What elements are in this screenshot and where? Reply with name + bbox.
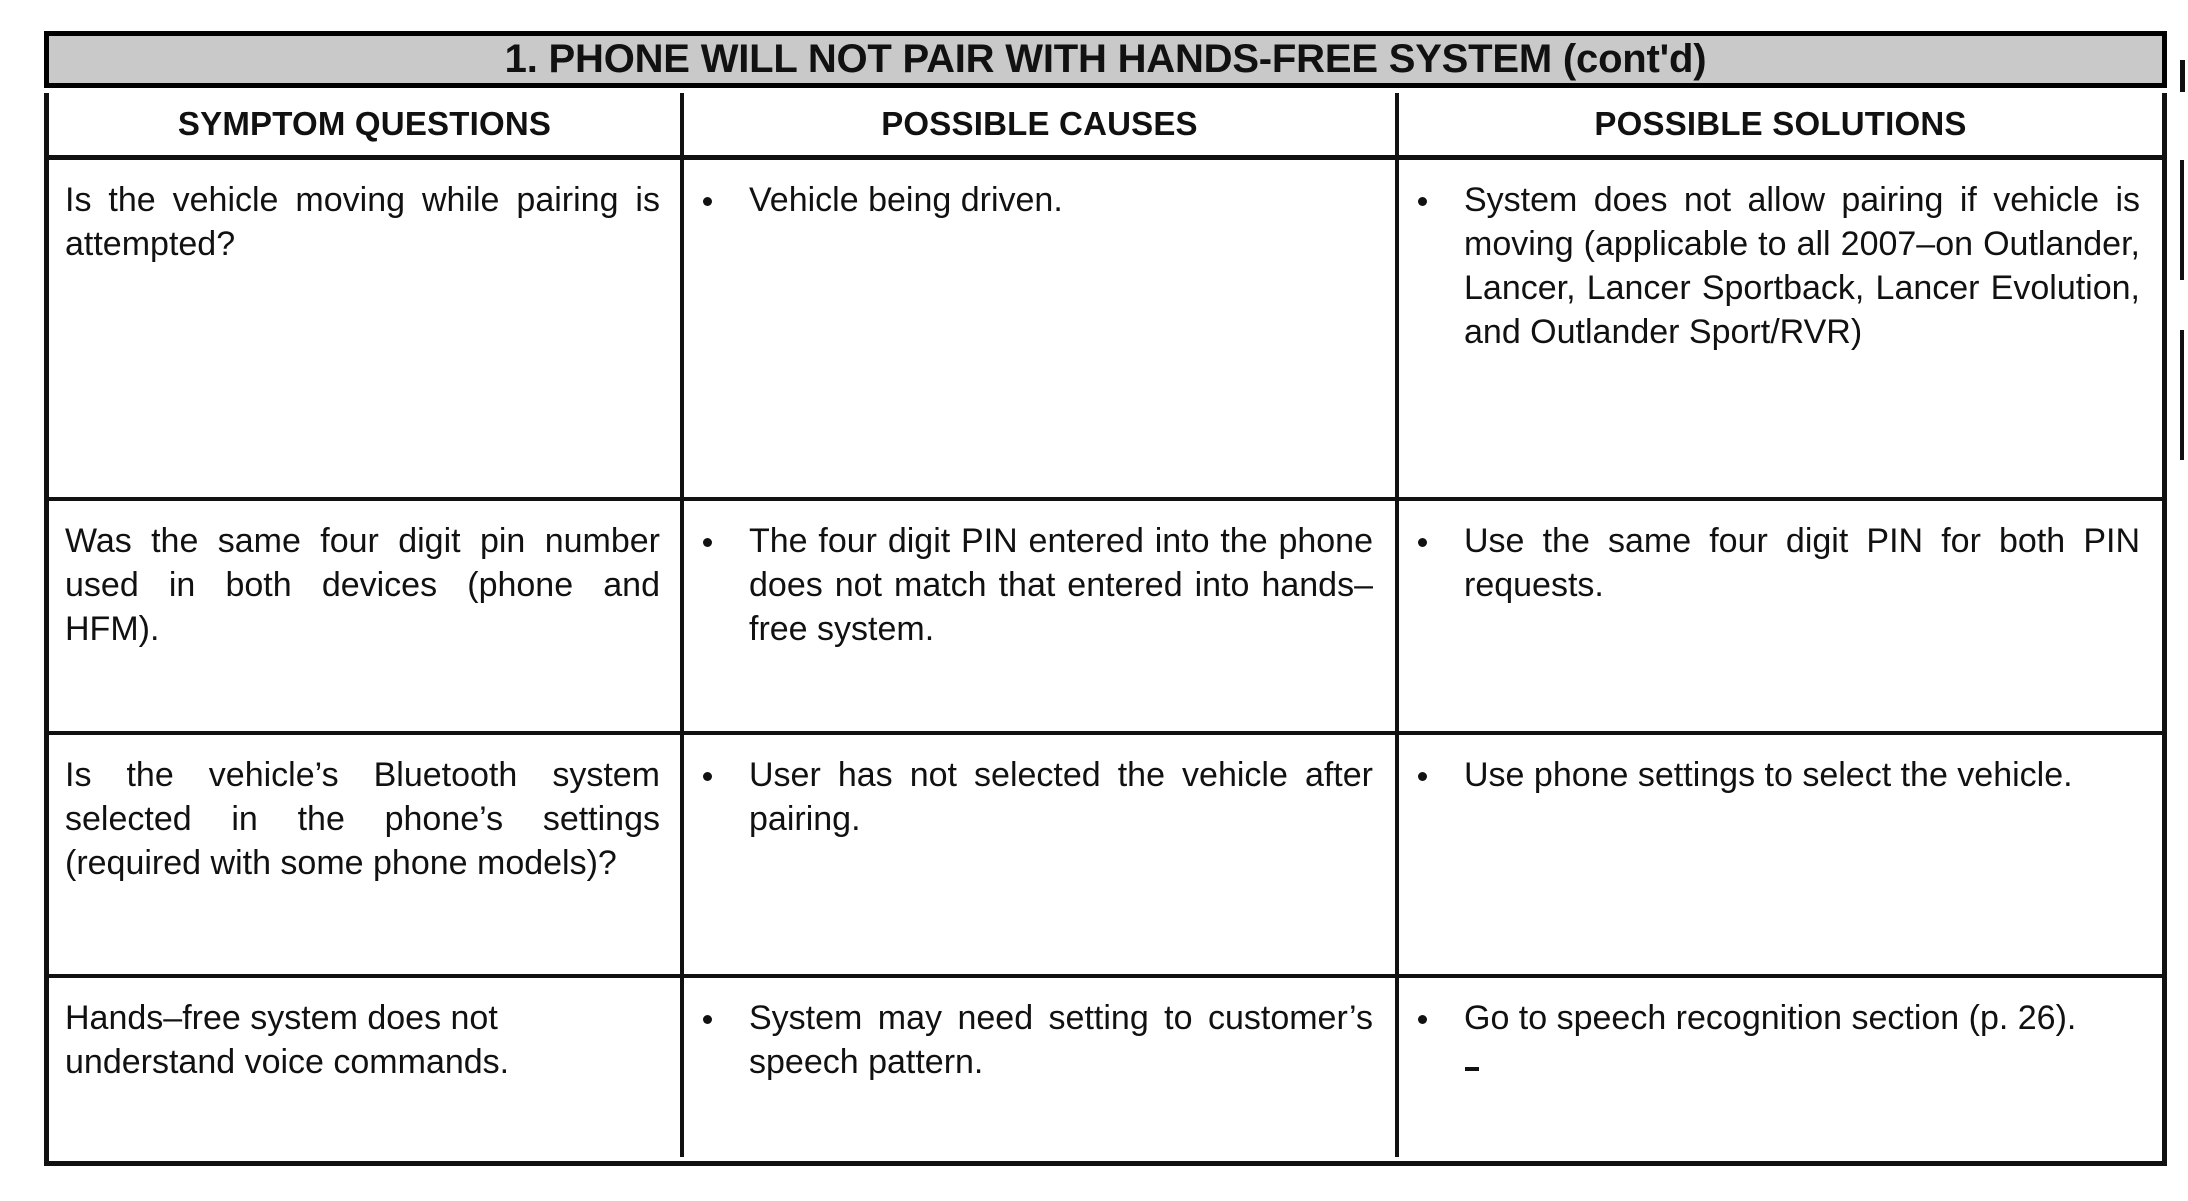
table-header-row: SYMPTOM QUESTIONS POSSIBLE CAUSES POSSIB… [49, 93, 2162, 160]
table-row: Was the same four digit pin number used … [49, 501, 2162, 735]
symptom-question-text: Hands–free system does not understand vo… [49, 978, 680, 1084]
possible-cause-text: User has not selected the vehicle after … [749, 753, 1373, 841]
list-item: Use phone settings to select the vehicle… [1413, 753, 2140, 797]
cell-possible-solutions: Go to speech recognition section (p. 26)… [1399, 978, 2162, 1157]
possible-solution-text: System does not allow pairing if vehicle… [1464, 178, 2140, 354]
possible-causes-list: System may need setting to customer’s sp… [684, 978, 1395, 1084]
cell-symptom-question: Hands–free system does not understand vo… [49, 978, 684, 1157]
cell-symptom-question: Is the vehicle moving while pairing is a… [49, 160, 684, 497]
possible-solution-text: Use phone settings to select the vehicle… [1464, 753, 2140, 797]
column-header-label: POSSIBLE CAUSES [881, 105, 1198, 143]
list-item: The four digit PIN entered into the phon… [698, 519, 1373, 651]
column-header-possible-causes: POSSIBLE CAUSES [684, 93, 1399, 155]
column-header-label: SYMPTOM QUESTIONS [178, 105, 551, 143]
possible-solutions-list: System does not allow pairing if vehicle… [1399, 160, 2162, 354]
bullet-icon [703, 197, 712, 206]
column-header-possible-solutions: POSSIBLE SOLUTIONS [1399, 93, 2162, 155]
cell-symptom-question: Was the same four digit pin number used … [49, 501, 684, 731]
bullet-icon [1418, 1015, 1427, 1024]
list-item: Use the same four digit PIN for both PIN… [1413, 519, 2140, 607]
possible-solutions-list: Go to speech recognition section (p. 26)… [1399, 978, 2162, 1084]
cell-symptom-question: Is the vehicle’s Bluetooth system select… [49, 735, 684, 974]
scan-artifact-tick-top [2180, 60, 2185, 92]
column-header-symptom-questions: SYMPTOM QUESTIONS [49, 93, 684, 155]
table-row: Is the vehicle’s Bluetooth system select… [49, 735, 2162, 978]
cell-possible-causes: Vehicle being driven. [684, 160, 1399, 497]
list-item: Vehicle being driven. [698, 178, 1373, 222]
bullet-icon [1418, 538, 1427, 547]
symptom-question-text: Is the vehicle moving while pairing is a… [49, 160, 680, 266]
bullet-icon [1418, 197, 1427, 206]
bullet-icon [1418, 772, 1427, 781]
column-header-label: POSSIBLE SOLUTIONS [1594, 105, 1966, 143]
list-item: System does not allow pairing if vehicle… [1413, 178, 2140, 354]
bullet-icon [703, 538, 712, 547]
cell-possible-causes: The four digit PIN entered into the phon… [684, 501, 1399, 731]
scan-artifact-underscore [1465, 1067, 1479, 1071]
bullet-icon [703, 1015, 712, 1024]
possible-solution-text: Go to speech recognition section (p. 26)… [1464, 996, 2140, 1040]
document-page: 1. PHONE WILL NOT PAIR WITH HANDS-FREE S… [0, 0, 2188, 1201]
cell-possible-causes: System may need setting to customer’s sp… [684, 978, 1399, 1157]
scan-artifact-tick-upper [2180, 160, 2184, 280]
symptom-question-text: Is the vehicle’s Bluetooth system select… [49, 735, 680, 885]
possible-solution-text: Use the same four digit PIN for both PIN… [1464, 519, 2140, 607]
table-row: Hands–free system does not understand vo… [49, 978, 2162, 1157]
list-item: System may need setting to customer’s sp… [698, 996, 1373, 1084]
cell-possible-solutions: System does not allow pairing if vehicle… [1399, 160, 2162, 497]
cell-possible-causes: User has not selected the vehicle after … [684, 735, 1399, 974]
table-row: Is the vehicle moving while pairing is a… [49, 160, 2162, 501]
possible-solutions-list: Use the same four digit PIN for both PIN… [1399, 501, 2162, 607]
bullet-icon [703, 772, 712, 781]
cell-possible-solutions: Use phone settings to select the vehicle… [1399, 735, 2162, 974]
possible-causes-list: Vehicle being driven. [684, 160, 1395, 222]
table-title-banner: 1. PHONE WILL NOT PAIR WITH HANDS-FREE S… [44, 31, 2167, 88]
possible-solutions-list: Use phone settings to select the vehicle… [1399, 735, 2162, 797]
table-title: 1. PHONE WILL NOT PAIR WITH HANDS-FREE S… [505, 39, 1707, 79]
possible-cause-text: Vehicle being driven. [749, 178, 1373, 222]
possible-cause-text: The four digit PIN entered into the phon… [749, 519, 1373, 651]
troubleshooting-table: SYMPTOM QUESTIONS POSSIBLE CAUSES POSSIB… [44, 93, 2167, 1166]
scan-artifact-tick-lower [2180, 330, 2184, 460]
list-item: Go to speech recognition section (p. 26)… [1413, 996, 2140, 1084]
list-item: User has not selected the vehicle after … [698, 753, 1373, 841]
possible-causes-list: User has not selected the vehicle after … [684, 735, 1395, 841]
symptom-question-text: Was the same four digit pin number used … [49, 501, 680, 651]
possible-cause-text: System may need setting to customer’s sp… [749, 996, 1373, 1084]
possible-causes-list: The four digit PIN entered into the phon… [684, 501, 1395, 651]
cell-possible-solutions: Use the same four digit PIN for both PIN… [1399, 501, 2162, 731]
